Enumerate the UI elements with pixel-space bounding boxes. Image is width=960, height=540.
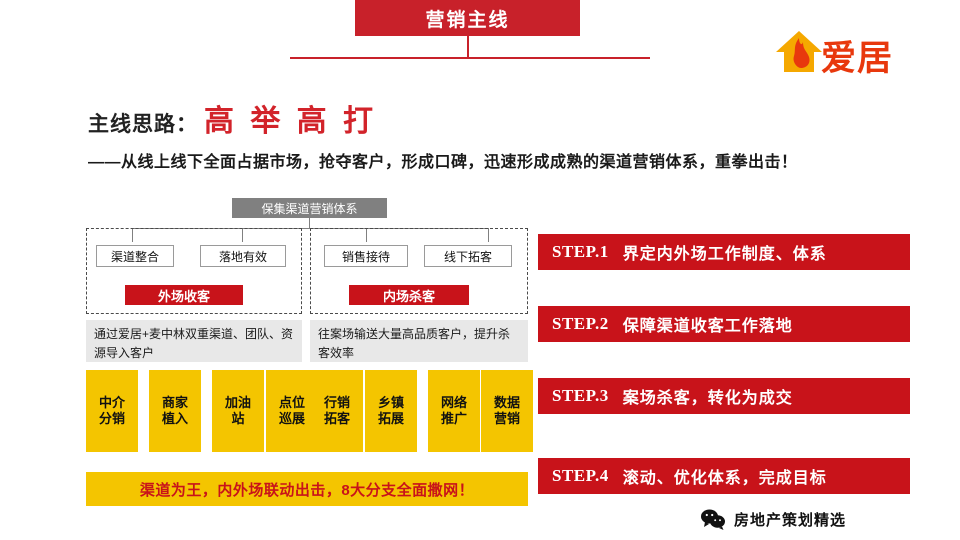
banner-inner-field: 内场杀客 xyxy=(348,284,470,306)
diagram-bottom-banner: 渠道为王，内外场联动出击，8大分支全面撒网！ xyxy=(86,472,528,506)
box-channel-integration: 渠道整合 xyxy=(96,245,174,267)
house-flame-icon xyxy=(773,28,825,78)
step-item-3: STEP.3 案场杀客，转化为成交 xyxy=(538,378,910,414)
channel-item-1: 中介分销 xyxy=(86,370,138,452)
footer-badge: 房地产策划精选 xyxy=(700,508,846,530)
box-effective-landing: 落地有效 xyxy=(200,245,286,267)
page-title: 营销主线 xyxy=(355,0,580,36)
lead-subtitle: ——从线上线下全面占据市场，抢夺客户，形成口碑，迅速形成成熟的渠道营销体系，重拳… xyxy=(88,148,798,172)
box-offline-expansion: 线下拓客 xyxy=(424,245,512,267)
lead-strong-text: 高 举 高 打 xyxy=(204,96,377,140)
step-3-text: 案场杀客，转化为成交 xyxy=(623,384,793,408)
brand-logo: 爱居 xyxy=(773,28,938,80)
note-outer-field: 通过爱居+麦中林双重渠道、团队、资源导入客户 xyxy=(86,320,302,362)
channel-item-5: 行销拓客 xyxy=(311,370,363,452)
lead-label: 主线思路： xyxy=(88,108,198,138)
title-horizontal-rule xyxy=(290,57,650,59)
channel-item-6: 乡镇拓展 xyxy=(365,370,417,452)
channel-item-7: 网络推广 xyxy=(428,370,480,452)
wechat-icon xyxy=(700,508,726,530)
step-3-number: STEP.3 xyxy=(552,386,609,406)
note-inner-field: 往案场输送大量高品质客户，提升杀客效率 xyxy=(310,320,528,362)
slide-root: 营销主线 爱居 主线思路： 高 举 高 打 ——从线上线下全面占据市场，抢夺客户… xyxy=(0,0,960,540)
banner-outer-field: 外场收客 xyxy=(124,284,244,306)
channel-item-2: 商家植入 xyxy=(149,370,201,452)
system-title-box: 保集渠道营销体系 xyxy=(232,198,387,218)
step-4-text: 滚动、优化体系，完成目标 xyxy=(623,464,827,488)
step-4-number: STEP.4 xyxy=(552,466,609,486)
footer-text: 房地产策划精选 xyxy=(734,509,846,530)
step-item-4: STEP.4 滚动、优化体系，完成目标 xyxy=(538,458,910,494)
connector-vertical-center xyxy=(309,218,310,228)
step-item-2: STEP.2 保障渠道收客工作落地 xyxy=(538,306,910,342)
box-sales-reception: 销售接待 xyxy=(324,245,408,267)
step-1-text: 界定内外场工作制度、体系 xyxy=(623,240,827,264)
title-stem-divider xyxy=(467,36,469,58)
channel-item-3: 加油站 xyxy=(212,370,264,452)
lead-heading: 主线思路： 高 举 高 打 xyxy=(88,96,377,140)
step-1-number: STEP.1 xyxy=(552,242,609,262)
brand-logo-text: 爱居 xyxy=(821,30,893,81)
step-2-text: 保障渠道收客工作落地 xyxy=(623,312,793,336)
channel-item-8: 数据营销 xyxy=(481,370,533,452)
step-item-1: STEP.1 界定内外场工作制度、体系 xyxy=(538,234,910,270)
step-2-number: STEP.2 xyxy=(552,314,609,334)
